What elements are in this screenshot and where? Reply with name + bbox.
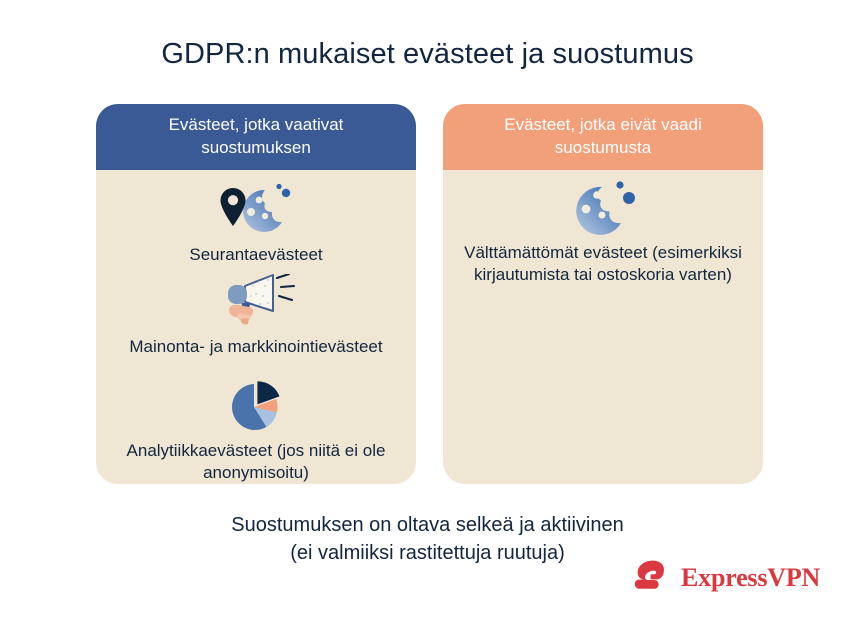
page-title: GDPR:n mukaiset evästeet ja suostumus: [0, 38, 855, 71]
card-header-no-consent-required: Evästeet, jotka eivät vaadi suostumusta: [443, 104, 763, 170]
list-item-label: Mainonta- ja markkinointievästeet: [108, 336, 404, 358]
list-item-label: Analytiikkaevästeet (jos niitä ei ole an…: [108, 440, 404, 484]
cookie-icon: [455, 180, 751, 238]
card-body-consent-required: Seurantaevästeet: [96, 170, 416, 484]
expressvpn-e-mark-icon: [634, 560, 672, 595]
list-item-label: Seurantaevästeet: [108, 244, 404, 266]
list-item-tracking-cookies: Seurantaevästeet: [96, 182, 416, 266]
list-item-label: Välttämättömät evästeet (esimerkiksi kir…: [455, 242, 751, 287]
pie-chart-icon: [108, 378, 404, 436]
list-item-essential-cookies: Välttämättömät evästeet (esimerkiksi kir…: [443, 180, 763, 287]
megaphone-icon: [108, 274, 404, 332]
location-pin-cookie-icon: [108, 182, 404, 240]
card-header-consent-required: Evästeet, jotka vaativat suostumuksen: [96, 104, 416, 170]
list-item-analytics-cookies: Analytiikkaevästeet (jos niitä ei ole an…: [96, 378, 416, 484]
expressvpn-logo: ExpressVPN: [634, 560, 820, 595]
footer-caption-line-1: Suostumuksen on oltava selkeä ja aktiivi…: [0, 511, 855, 539]
card-no-consent-required: Evästeet, jotka eivät vaadi suostumusta: [443, 104, 763, 484]
list-item-advertising-cookies: Mainonta- ja markkinointievästeet: [96, 274, 416, 358]
card-consent-required: Evästeet, jotka vaativat suostumuksen: [96, 104, 416, 484]
card-body-no-consent-required: Välttämättömät evästeet (esimerkiksi kir…: [443, 170, 763, 484]
expressvpn-wordmark: ExpressVPN: [681, 563, 820, 593]
